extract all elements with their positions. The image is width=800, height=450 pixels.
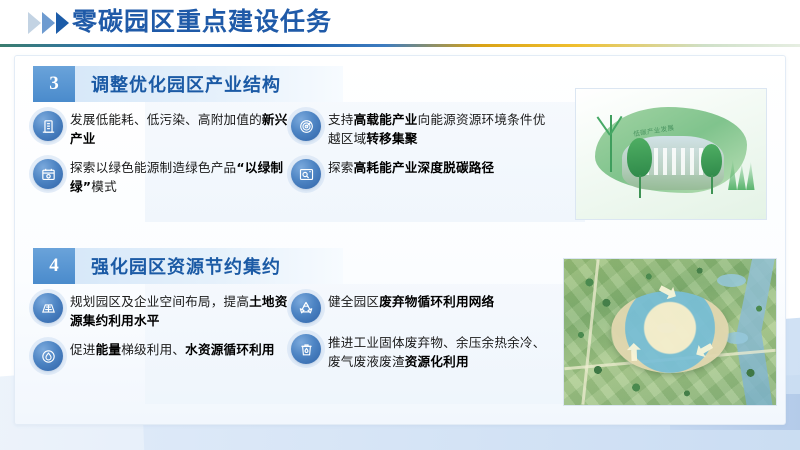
section-3-title: 调整优化园区产业结构 — [91, 71, 281, 97]
section-4-number-badge: 4 — [33, 248, 75, 284]
chart-box-icon — [291, 159, 321, 189]
wind-turbine-icon — [610, 115, 612, 172]
list-item-text: 健全园区废弃物循环利用网络 — [328, 292, 494, 311]
page-title: 零碳园区重点建设任务 — [72, 6, 332, 40]
triple-chevron-right-icon — [28, 12, 69, 34]
list-item-text: 支持高载能产业向能源资源环境条件优越区域转移集聚 — [328, 110, 553, 148]
tree-trunk-2 — [711, 175, 713, 195]
list-item: 发展低能耗、低污染、高附加值的新兴产业 — [33, 110, 291, 148]
list-item: 推进工业固体废弃物、余压余热余冷、废气废液废渣资源化利用 — [291, 333, 553, 371]
list-item-text: 探索高耗能产业深度脱碳路径 — [328, 158, 494, 177]
section-4: 4 强化园区资源节约集约 — [15, 248, 787, 420]
section-3: 3 调整优化园区产业结构 — [15, 66, 787, 234]
aerial-tree-canopy — [564, 259, 776, 405]
list-item-text: 推进工业固体废弃物、余压余热余冷、废气废液废渣资源化利用 — [328, 333, 553, 371]
list-item: 健全园区废弃物循环利用网络 — [291, 292, 553, 323]
tree-icon-2 — [701, 144, 722, 178]
content-panel: 3 调整优化园区产业结构 — [14, 55, 786, 425]
water-drop-icon — [33, 341, 63, 371]
section-4-title: 强化园区资源节约集约 — [91, 253, 281, 279]
list-item: 促进能量梯级利用、水资源循环利用 — [33, 340, 291, 371]
section-3-bullet-columns: 发展低能耗、低污染、高附加值的新兴产业 探索以绿 — [33, 110, 553, 206]
aerial-circular-recycling-park-photo — [563, 258, 777, 406]
list-item: 支持高载能产业向能源资源环境条件优越区域转移集聚 — [291, 110, 553, 148]
recycle-icon — [291, 293, 321, 323]
list-item-text: 规划园区及企业空间布局，提高土地资源集约利用水平 — [70, 292, 291, 330]
section-3-left-column: 发展低能耗、低污染、高附加值的新兴产业 探索以绿 — [33, 110, 291, 206]
list-item-text: 发展低能耗、低污染、高附加值的新兴产业 — [70, 110, 291, 148]
list-item: 探索高耗能产业深度脱碳路径 — [291, 158, 553, 189]
list-item: 探索以绿色能源制造绿色产品“以绿制绿”模式 — [33, 158, 291, 196]
list-item-text: 促进能量梯级利用、水资源循环利用 — [70, 340, 275, 359]
target-radar-icon — [291, 111, 321, 141]
slide-header: 零碳园区重点建设任务 — [0, 0, 800, 48]
eco-illustration-canvas: 低碳产业发展 — [576, 89, 766, 219]
site-layout-icon — [33, 293, 63, 323]
aerial-photo-canvas — [564, 259, 776, 405]
section-3-header: 3 调整优化园区产业结构 — [33, 66, 343, 102]
green-product-box-icon — [33, 159, 63, 189]
section-4-bullet-columns: 规划园区及企业空间布局，提高土地资源集约利用水平 促进能量梯级利用、水资源循环利… — [33, 292, 553, 381]
section-3-number-badge: 3 — [33, 66, 75, 102]
slide-root: 零碳园区重点建设任务 3 调整优化园区产业结构 — [0, 0, 800, 450]
tree-trunk-1 — [639, 175, 641, 198]
section-4-left-column: 规划园区及企业空间布局，提高土地资源集约利用水平 促进能量梯级利用、水资源循环利… — [33, 292, 291, 381]
section-4-title-strip: 强化园区资源节约集约 — [75, 248, 343, 284]
list-item: 规划园区及企业空间布局，提高土地资源集约利用水平 — [33, 292, 291, 330]
section-3-right-column: 支持高载能产业向能源资源环境条件优越区域转移集聚 探索高耗能产业深度脱碳路径 — [291, 110, 553, 206]
section-3-title-strip: 调整优化园区产业结构 — [75, 66, 343, 102]
building-icon — [33, 111, 63, 141]
title-divider-rule — [0, 44, 800, 47]
list-item-text: 探索以绿色能源制造绿色产品“以绿制绿”模式 — [70, 158, 291, 196]
chevron-right-icon-3 — [56, 12, 69, 34]
waste-bin-icon — [291, 334, 321, 364]
chevron-right-icon-2 — [42, 12, 55, 34]
tree-icon-1 — [627, 138, 652, 177]
chevron-right-icon-1 — [28, 12, 41, 34]
section-4-right-column: 健全园区废弃物循环利用网络 推进工业固体废弃物、余压余热余冷、废气废液废渣资源化… — [291, 292, 553, 381]
low-carbon-industry-illustration: 低碳产业发展 — [575, 88, 767, 220]
section-4-header: 4 强化园区资源节约集约 — [33, 248, 343, 284]
